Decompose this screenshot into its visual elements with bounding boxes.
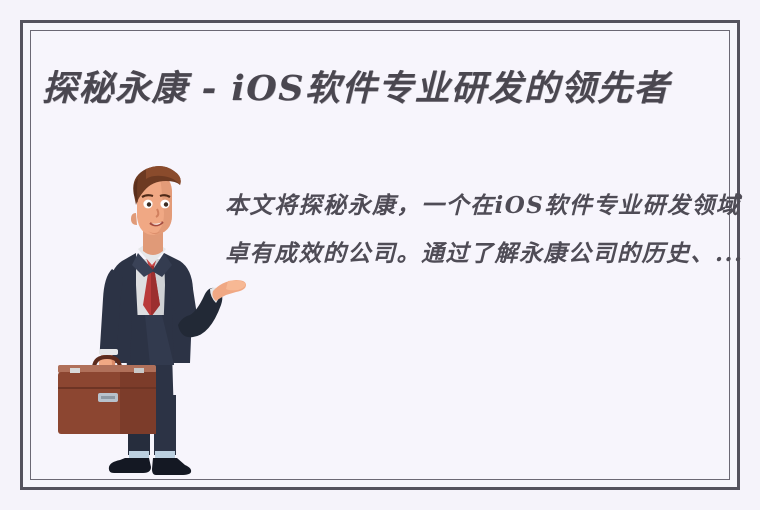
briefcase-shading bbox=[120, 372, 156, 434]
sock-left bbox=[129, 451, 149, 458]
pupil-left bbox=[147, 202, 151, 206]
briefcase-seam bbox=[58, 387, 156, 389]
article-excerpt: 本文将探秘永康，一个在iOS软件专业研发领域卓有成效的公司。通过了解永康公司的历… bbox=[225, 182, 745, 278]
trouser-leg-right bbox=[154, 395, 176, 455]
pupil-right bbox=[164, 202, 168, 206]
shoe-left bbox=[109, 458, 151, 473]
shirt-cuff-left bbox=[99, 349, 118, 355]
businessman-with-briefcase-illustration bbox=[50, 165, 250, 485]
page-title: 探秘永康 - iOS软件专业研发的领先者 bbox=[42, 56, 742, 122]
briefcase-tab-right bbox=[134, 368, 144, 373]
briefcase-clasp-detail bbox=[101, 396, 115, 399]
briefcase-tab-left bbox=[70, 368, 80, 373]
ear bbox=[131, 213, 137, 225]
shoe-right bbox=[152, 458, 191, 475]
article-card: 探秘永康 - iOS软件专业研发的领先者 本文将探秘永康，一个在iOS软件专业研… bbox=[0, 0, 760, 510]
sock-right bbox=[155, 451, 175, 458]
